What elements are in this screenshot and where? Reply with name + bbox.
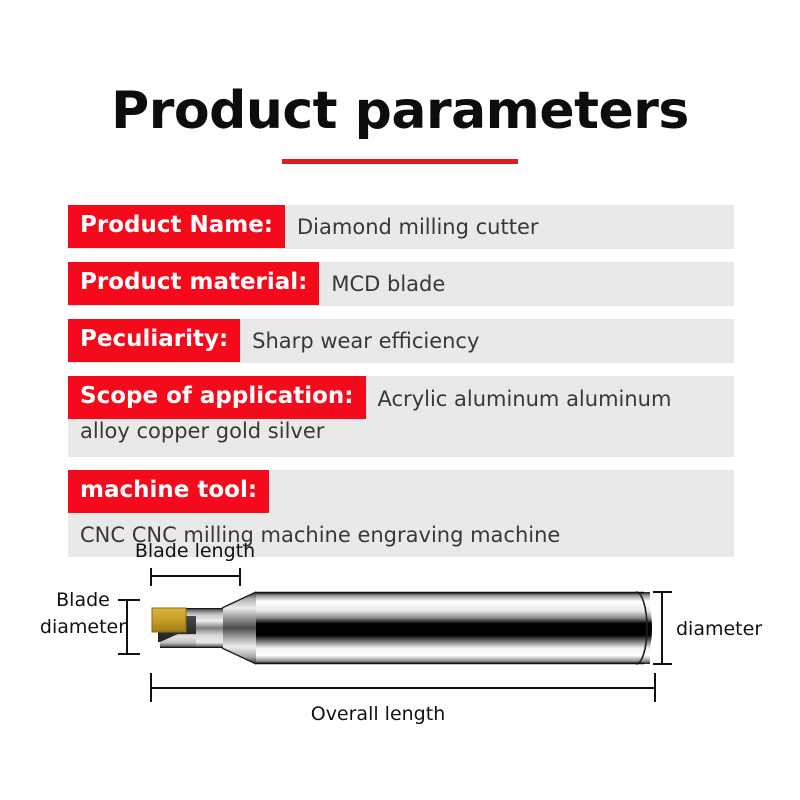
dimension-label-blade-diameter-line1: Blade [56,589,110,611]
dimension-blade-length: Blade length [135,540,255,586]
product-parameters-table: Product Name: Diamond milling cutter Pro… [68,205,734,570]
cutter-shank [256,592,652,664]
dimension-label-blade-length: Blade length [135,540,255,562]
dimension-label-overall-length: Overall length [311,703,446,725]
table-row: Scope of application: Acrylic aluminum a… [68,376,734,457]
mcd-blade-insert [152,608,186,632]
spec-value-scope-of-application-line2: alloy copper gold silver [68,421,758,457]
dimension-label-blade-diameter-line2: diameter [40,616,126,638]
title-block: Product parameters [0,84,800,164]
dimension-label-diameter: diameter [676,618,762,640]
spec-value-product-name: Diamond milling cutter [285,205,734,249]
spec-value-product-material: MCD blade [319,262,734,306]
spec-label-product-name: Product Name: [68,205,285,248]
spec-label-product-material: Product material: [68,262,319,305]
dimension-blade-diameter: Blade diameter [40,589,140,654]
spec-label-machine-tool: machine tool: [68,470,269,513]
cutter-illustration [152,592,652,664]
spec-label-scope-of-application: Scope of application: [68,376,366,419]
spec-value-scope-of-application: Acrylic aluminum aluminum [366,376,734,421]
cutter-taper [222,592,256,664]
cutter-dimension-diagram: Blade length Blade diameter diameter Ove… [0,530,800,730]
table-row: Product material: MCD blade [68,262,734,306]
dimension-overall-length: Overall length [151,673,655,725]
table-row: Product Name: Diamond milling cutter [68,205,734,249]
dimension-shank-diameter: diameter [653,592,762,664]
spec-value-peculiarity: Sharp wear efficiency [240,319,734,363]
page-title: Product parameters [0,84,800,139]
table-row: Peculiarity: Sharp wear efficiency [68,319,734,363]
spec-label-peculiarity: Peculiarity: [68,319,240,362]
title-underline-accent [282,159,518,164]
